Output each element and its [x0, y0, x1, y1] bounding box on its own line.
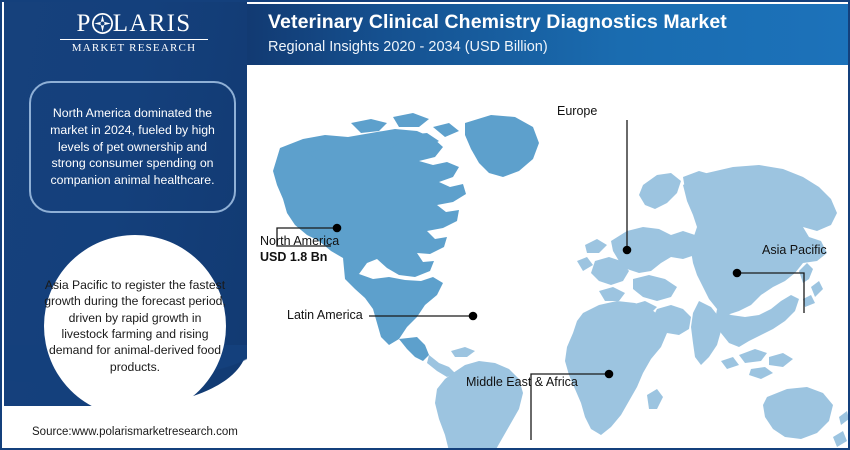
map-label-north-america[interactable]: North America USD 1.8 Bn	[260, 234, 339, 265]
marker-asia-pacific	[733, 269, 742, 278]
marker-latin-america	[469, 312, 478, 321]
logo-divider	[60, 39, 208, 40]
compass-star-icon	[92, 13, 113, 34]
map-label-europe[interactable]: Europe	[557, 104, 597, 120]
marker-europe	[623, 246, 632, 255]
map-label-asia-pacific[interactable]: Asia Pacific	[762, 243, 827, 259]
map-label-north-america-value: USD 1.8 Bn	[260, 250, 339, 266]
region-asia-pacific[interactable]	[653, 165, 837, 379]
callout-circle-asia-pacific: Asia Pacific to register the fastest gro…	[44, 235, 226, 417]
page-subtitle: Regional Insights 2020 - 2034 (USD Billi…	[268, 34, 850, 55]
callout-box-text: North America dominated the market in 20…	[31, 105, 234, 189]
logo-tagline: MARKET RESEARCH	[58, 42, 210, 54]
map-label-europe-name: Europe	[557, 104, 597, 120]
map-land-layer	[273, 113, 849, 450]
region-europe[interactable]	[577, 227, 703, 315]
marker-north-america	[333, 224, 342, 233]
callout-circle-text: Asia Pacific to register the fastest gro…	[44, 277, 226, 375]
map-label-north-america-name: North America	[260, 234, 339, 250]
map-label-latin-america-name: Latin America	[287, 308, 363, 324]
logo-wordmark: P LARIS	[58, 11, 210, 36]
infographic-root: P LARIS MARKET RESEARCH North America do…	[0, 0, 850, 450]
polaris-logo: P LARIS MARKET RESEARCH	[58, 11, 210, 54]
source-text: Source:www.polarismarketresearch.com	[32, 426, 238, 438]
header-bar: Veterinary Clinical Chemistry Diagnostic…	[247, 4, 850, 65]
logo-word-suffix: LARIS	[113, 11, 192, 36]
callout-box-north-america: North America dominated the market in 20…	[29, 81, 236, 213]
logo-word-prefix: P	[77, 11, 92, 36]
region-africa[interactable]	[565, 301, 667, 435]
marker-middle-east-africa	[605, 370, 614, 379]
map-label-asia-pacific-name: Asia Pacific	[762, 243, 827, 259]
map-label-middle-east-africa-name: Middle East & Africa	[466, 375, 578, 391]
map-label-latin-america[interactable]: Latin America	[287, 308, 363, 324]
page-title: Veterinary Clinical Chemistry Diagnostic…	[268, 4, 850, 34]
region-australia	[763, 387, 847, 447]
map-label-middle-east-africa[interactable]: Middle East & Africa	[466, 375, 578, 391]
region-new-zealand	[839, 411, 849, 425]
